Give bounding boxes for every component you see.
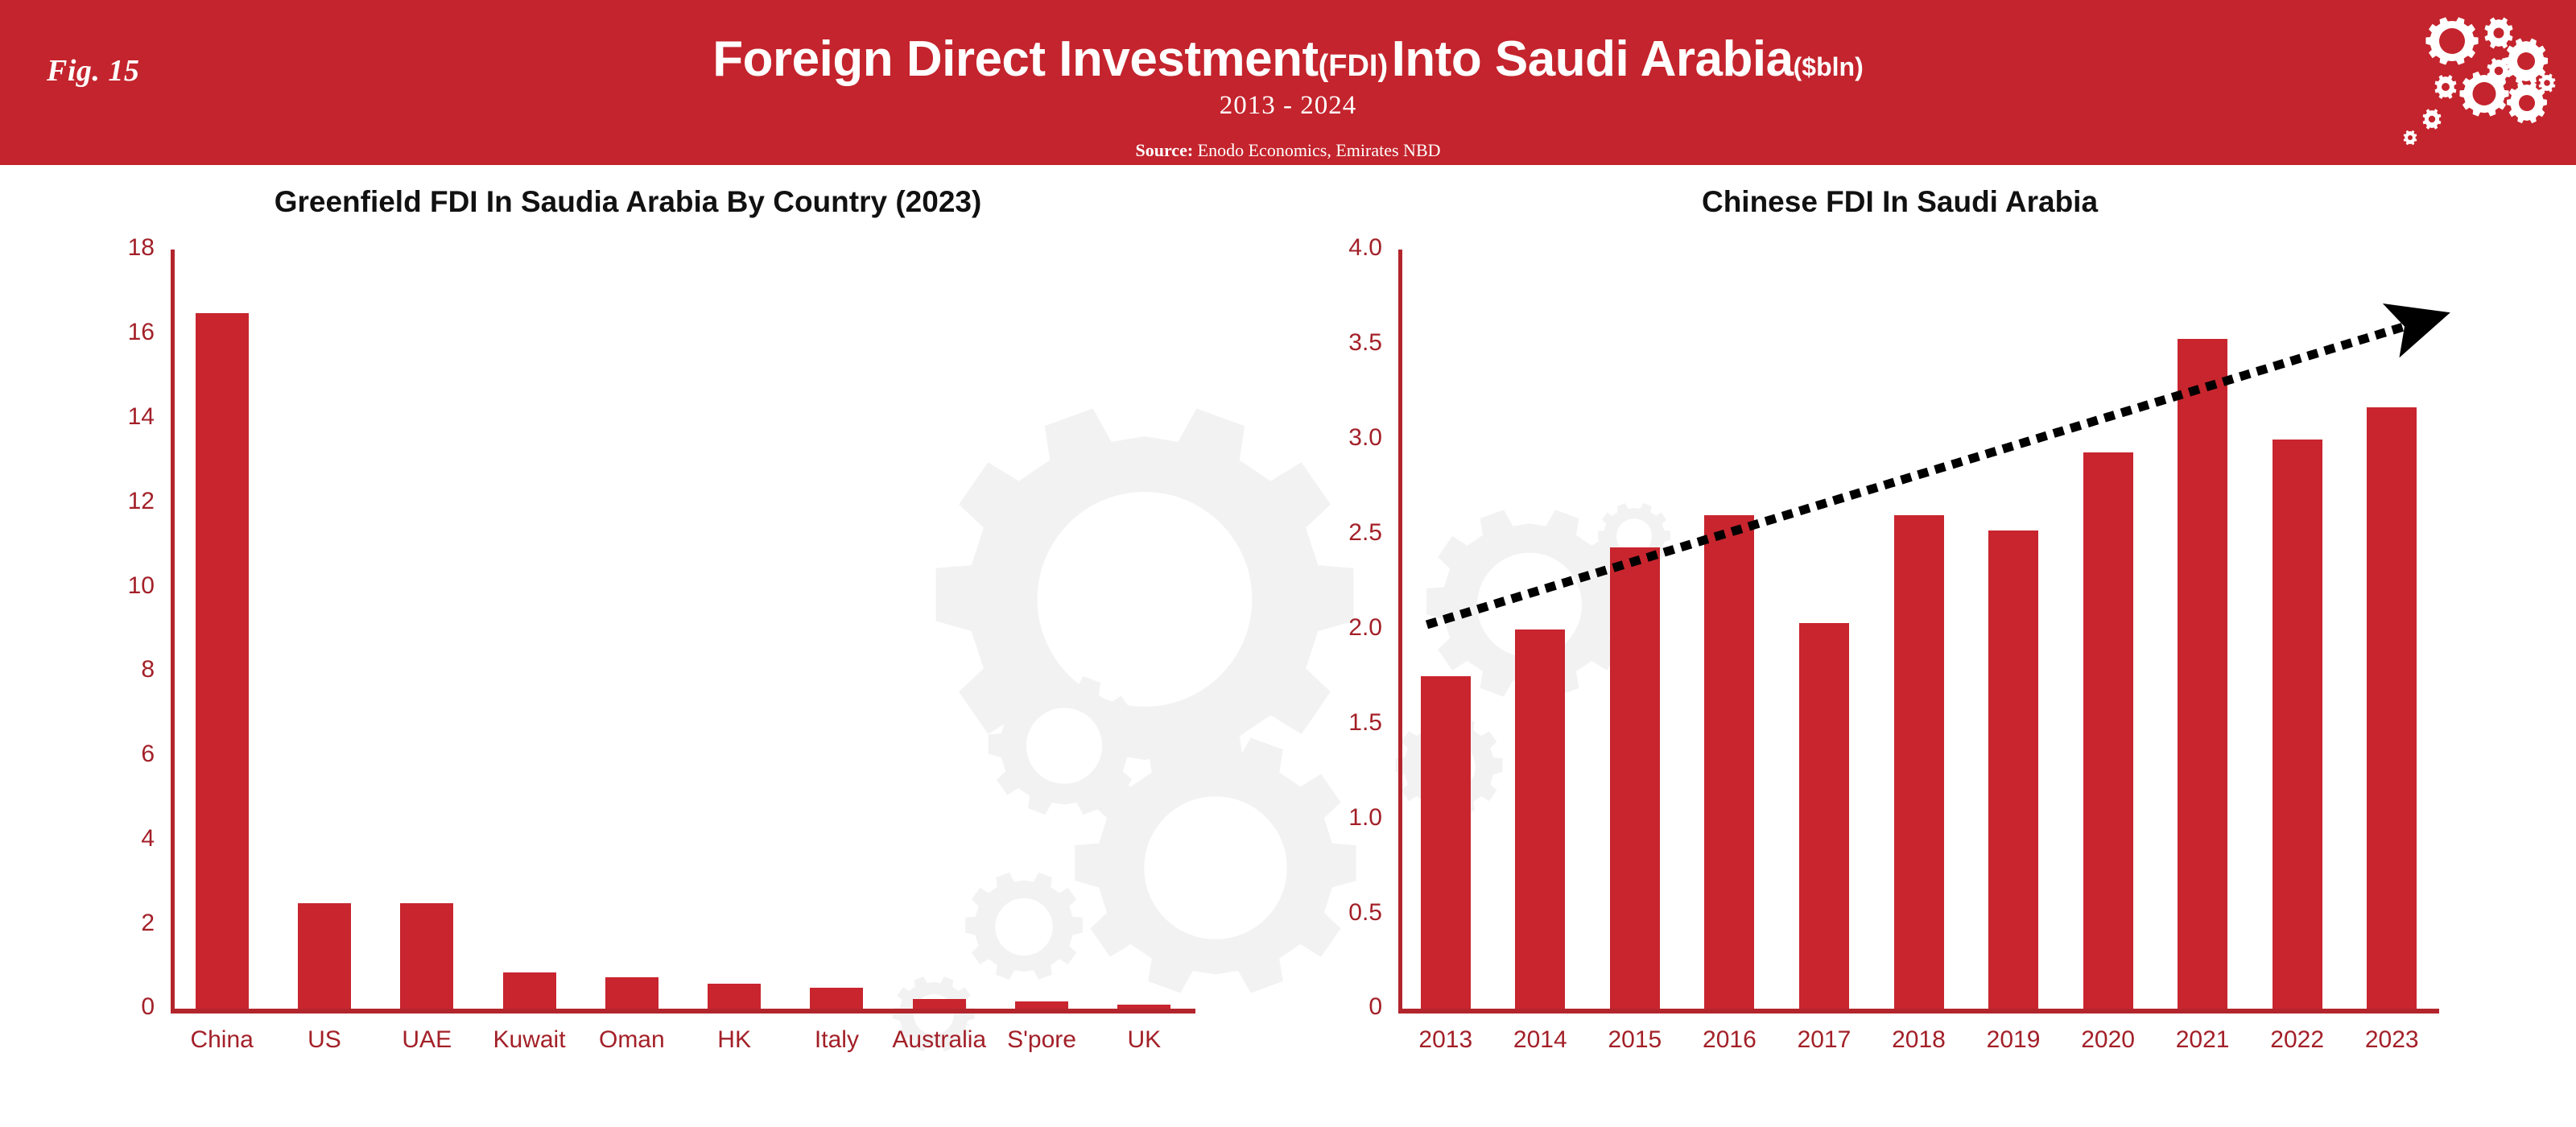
- y-axis-tick-label: 2.0: [1294, 614, 1382, 642]
- figure-page: Fig. 15 Foreign Direct Investment(FDI) I…: [0, 0, 2576, 1127]
- x-axis-tick-label: 2023: [2336, 1026, 2447, 1054]
- y-axis-line: [1398, 250, 1402, 1013]
- bar: [2367, 407, 2417, 1009]
- y-axis-tick-label: 4.0: [1294, 234, 1382, 262]
- right-chart-plot: 00.51.01.52.02.53.03.54.0201320142015201…: [0, 0, 2576, 1127]
- bar: [1988, 530, 2038, 1009]
- y-axis-tick-label: 1.5: [1294, 709, 1382, 737]
- y-axis-tick-label: 1.0: [1294, 804, 1382, 832]
- bar: [1610, 547, 1660, 1009]
- bar: [2273, 440, 2322, 1009]
- y-axis-tick-label: 0: [1294, 993, 1382, 1021]
- bar: [2083, 452, 2133, 1009]
- bar: [2178, 339, 2227, 1009]
- bar: [1704, 515, 1754, 1009]
- bar: [1799, 623, 1849, 1009]
- y-axis-tick-label: 3.5: [1294, 329, 1382, 357]
- y-axis-tick-label: 0.5: [1294, 899, 1382, 927]
- x-axis-line: [1398, 1009, 2439, 1013]
- bar: [1894, 515, 1944, 1009]
- y-axis-tick-label: 3.0: [1294, 424, 1382, 452]
- y-axis-tick-label: 2.5: [1294, 519, 1382, 547]
- bar: [1515, 630, 1565, 1009]
- bar: [1421, 676, 1471, 1009]
